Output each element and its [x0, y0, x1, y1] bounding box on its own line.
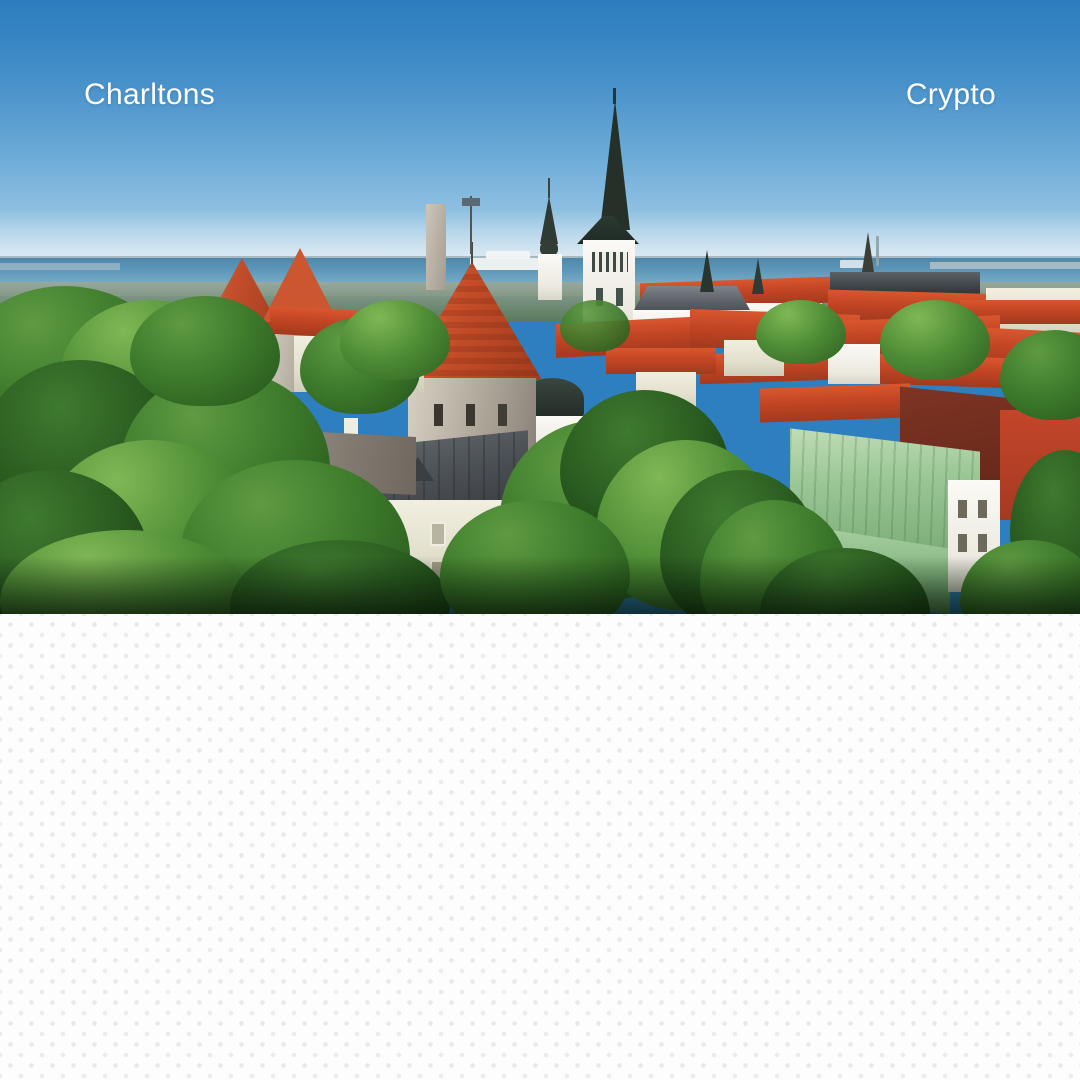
category-label: Crypto [906, 80, 996, 110]
building-window [958, 534, 967, 552]
building-window [978, 500, 987, 518]
port-structures [930, 262, 1080, 269]
foreground-shadow [0, 556, 1080, 614]
building-window [958, 500, 967, 518]
tree [130, 296, 280, 406]
small-spire-finial [548, 178, 550, 198]
tree [756, 300, 846, 364]
content-panel: ESTONIA REVAMPS CRYPTO REGULATION FRAMEW… [0, 614, 1080, 1080]
tower-window [434, 404, 443, 426]
small-spire-icon [862, 232, 874, 272]
church-spire-finial [613, 88, 616, 104]
church-side-turret-icon [752, 258, 764, 294]
building-window [978, 534, 987, 552]
church-tower-windows [592, 252, 628, 272]
building-window [430, 522, 446, 546]
tree [560, 300, 630, 352]
brand-name: Charltons [84, 80, 215, 110]
port-structures [0, 263, 120, 270]
tower-weathervane-flag [462, 198, 480, 206]
church-tower-window [616, 288, 623, 306]
tree [340, 300, 450, 380]
tower-window [466, 404, 475, 426]
tree [880, 300, 990, 380]
tower-window [498, 404, 507, 426]
small-spire-icon [540, 196, 558, 244]
church-side-turret-icon [700, 250, 714, 292]
hero-photo-tallinn-old-town: Charltons Crypto [0, 0, 1080, 614]
news-card: Charltons Crypto ESTONIA REVAMPS CRYPTO … [0, 0, 1080, 1080]
church-spire-icon [600, 100, 630, 230]
rooftop [760, 383, 910, 422]
chimney-tower [426, 204, 446, 290]
church-nave-roof [633, 286, 751, 312]
rooftop [606, 348, 716, 374]
radio-mast-icon [876, 236, 879, 266]
ship-icon [486, 251, 530, 259]
